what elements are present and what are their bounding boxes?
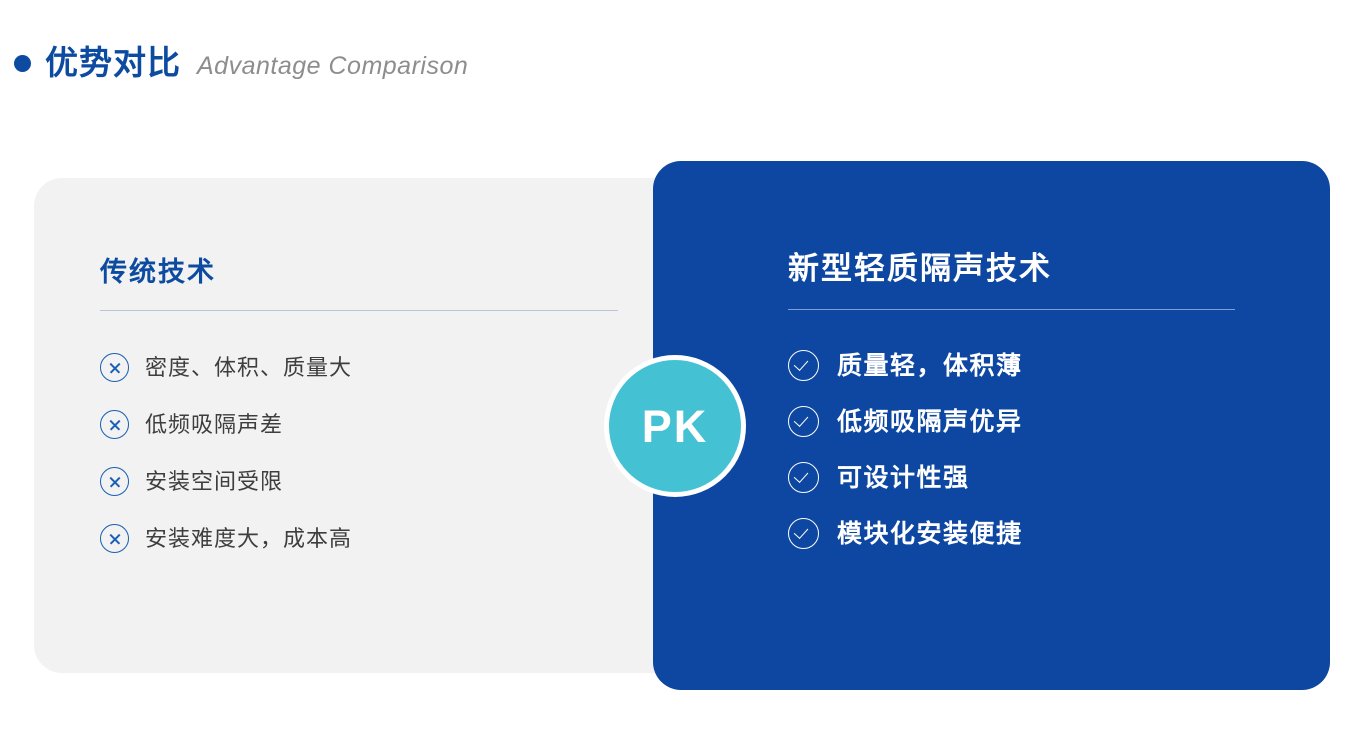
circle-x-icon (100, 353, 129, 382)
circle-check-icon (788, 350, 819, 381)
list-item-label: 低频吸隔声差 (145, 412, 283, 438)
section-header: 优势对比 Advantage Comparison (0, 46, 468, 79)
list-item: 安装空间受限 (100, 467, 620, 496)
page-subtitle: Advantage Comparison (197, 54, 468, 79)
list-item: 低频吸隔声差 (100, 410, 620, 439)
list-item: 低频吸隔声优异 (788, 406, 1288, 437)
traditional-technology-list: 密度、体积、质量大 低频吸隔声差 安装空间受限 安装难度大，成本高 (100, 353, 620, 553)
new-technology-content: 新型轻质隔声技术 质量轻，体积薄 低频吸隔声优异 可设计性强 模块化安装便捷 (788, 250, 1288, 574)
page-title: 优势对比 (45, 46, 181, 79)
pk-badge-label: PK (642, 404, 709, 449)
list-item-label: 密度、体积、质量大 (145, 355, 352, 381)
traditional-technology-title: 传统技术 (100, 256, 618, 311)
list-item-label: 低频吸隔声优异 (837, 407, 1023, 437)
list-item: 安装难度大，成本高 (100, 524, 620, 553)
circle-check-icon (788, 406, 819, 437)
list-item: 可设计性强 (788, 462, 1288, 493)
list-item: 模块化安装便捷 (788, 518, 1288, 549)
circle-check-icon (788, 462, 819, 493)
list-item-label: 可设计性强 (837, 463, 970, 493)
circle-x-icon (100, 410, 129, 439)
new-technology-title: 新型轻质隔声技术 (788, 250, 1235, 310)
list-item: 密度、体积、质量大 (100, 353, 620, 382)
pk-badge: PK (604, 355, 746, 497)
list-item: 质量轻，体积薄 (788, 350, 1288, 381)
circle-check-icon (788, 518, 819, 549)
new-technology-list: 质量轻，体积薄 低频吸隔声优异 可设计性强 模块化安装便捷 (788, 350, 1288, 549)
dot-icon (14, 55, 31, 72)
list-item-label: 安装难度大，成本高 (145, 526, 352, 552)
circle-x-icon (100, 524, 129, 553)
traditional-technology-content: 传统技术 密度、体积、质量大 低频吸隔声差 安装空间受限 安装难度大，成本高 (100, 256, 620, 581)
list-item-label: 安装空间受限 (145, 469, 283, 495)
list-item-label: 模块化安装便捷 (837, 519, 1023, 549)
list-item-label: 质量轻，体积薄 (837, 351, 1023, 381)
circle-x-icon (100, 467, 129, 496)
